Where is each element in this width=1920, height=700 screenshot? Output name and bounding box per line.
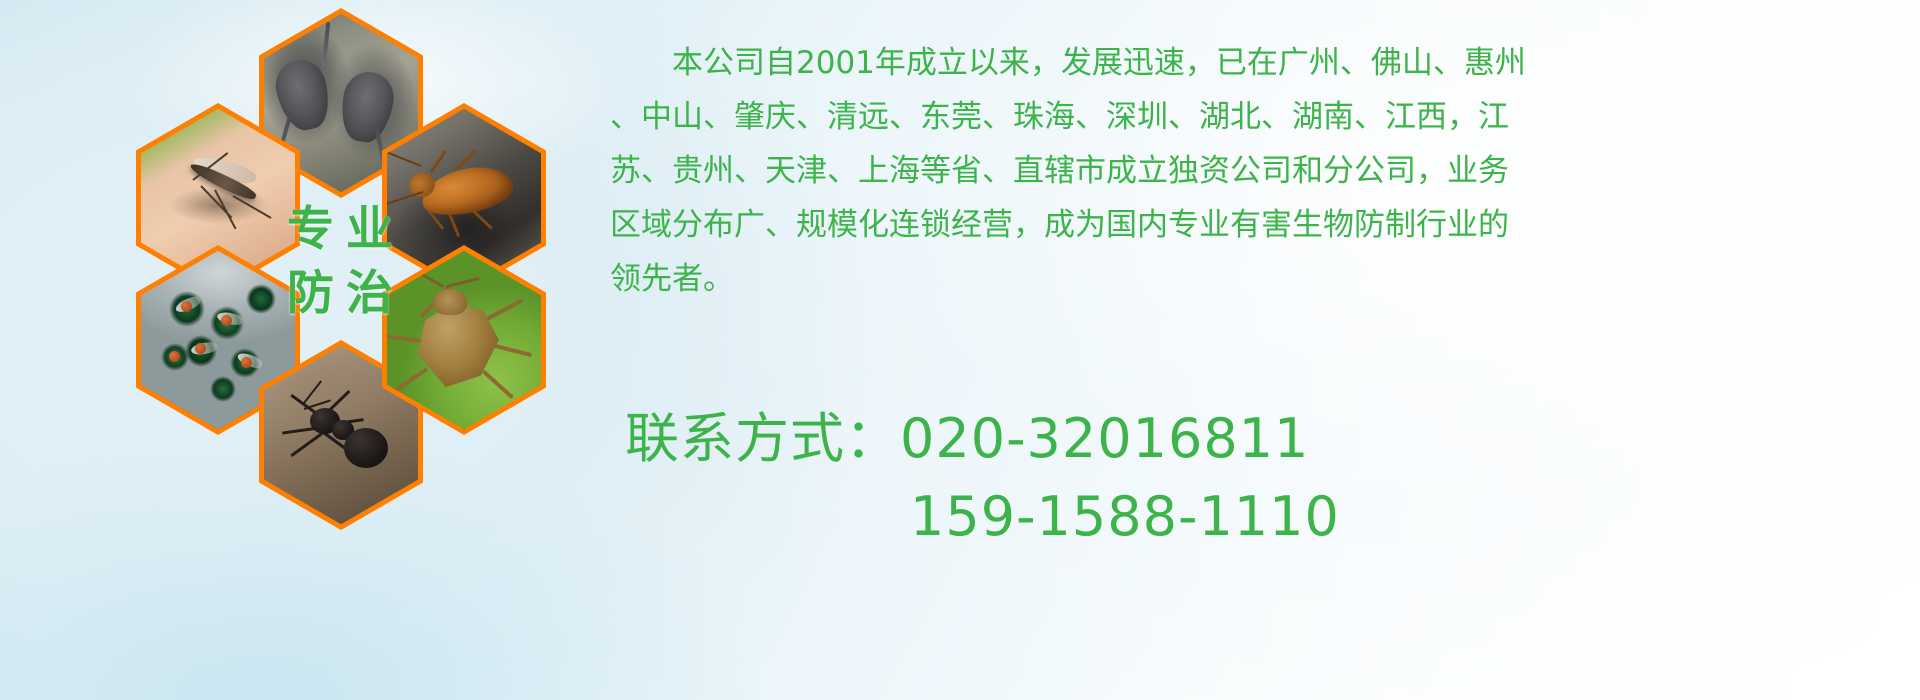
- intro-line-3: 苏、贵州、天津、上海等省、直辖市成立独资公司和分公司，业务: [610, 144, 1910, 198]
- contact-info: 联系方式：020-32016811 159-1588-1110: [625, 400, 1915, 556]
- honeycomb-logo: 专业 防治: [95, 8, 585, 553]
- intro-line-4: 区域分布广、规模化连锁经营，成为国内专业有害生物防制行业的: [610, 198, 1910, 252]
- contact-phone-secondary[interactable]: 159-1588-1110: [625, 478, 1915, 556]
- logo-slogan-line-1: 专业: [260, 198, 420, 262]
- logo-slogan: 专业 防治: [260, 198, 420, 326]
- banner-root: 专业 防治 本公司自2001年成立以来，发展迅速，已在广州、佛山、惠州 、中山、…: [0, 0, 1920, 700]
- intro-line-2: 、中山、肇庆、清远、东莞、珠海、深圳、湖北、湖南、江西，江: [610, 90, 1910, 144]
- intro-paragraph: 本公司自2001年成立以来，发展迅速，已在广州、佛山、惠州 、中山、肇庆、清远、…: [610, 36, 1910, 306]
- contact-phone-primary[interactable]: 联系方式：020-32016811: [625, 400, 1915, 478]
- intro-line-5: 领先者。: [610, 252, 1910, 306]
- intro-line-1: 本公司自2001年成立以来，发展迅速，已在广州、佛山、惠州: [610, 36, 1910, 90]
- logo-slogan-line-2: 防治: [260, 262, 420, 326]
